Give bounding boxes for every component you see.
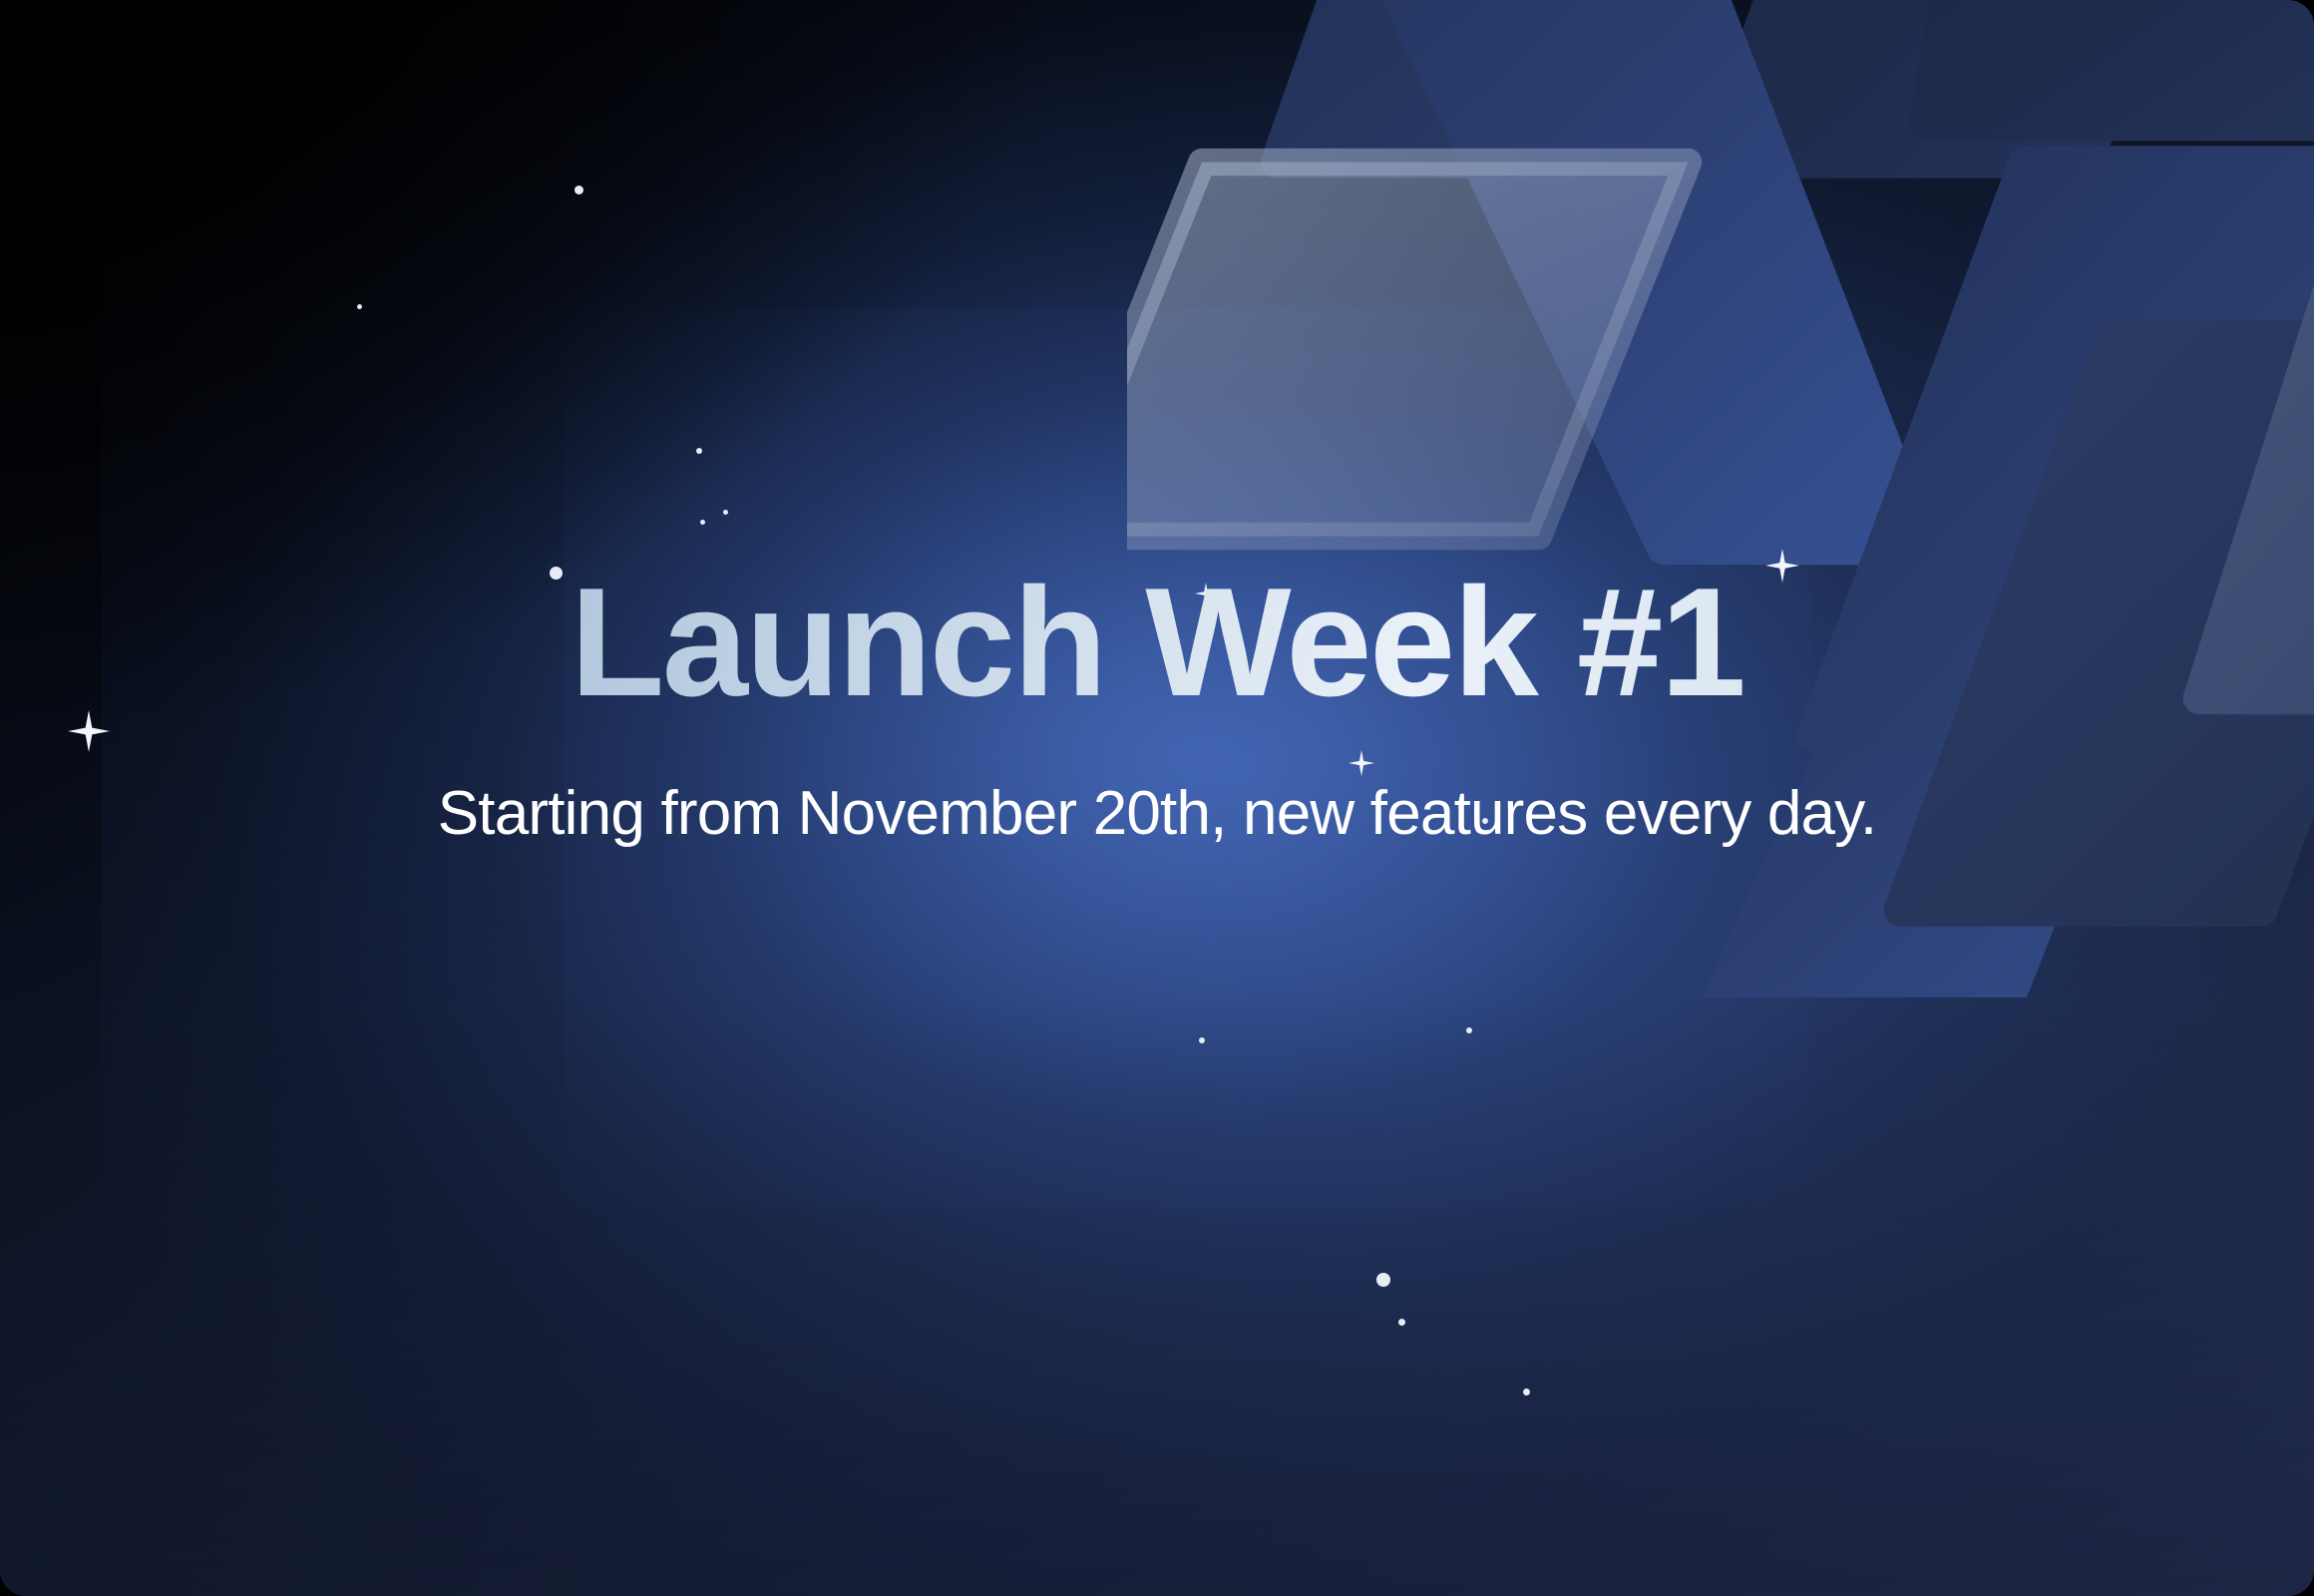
launch-week-banner: Launch Week #1 Starting from November 20… (0, 0, 2314, 1596)
page-title: Launch Week #1 (571, 565, 1744, 719)
banner-content: Launch Week #1 Starting from November 20… (0, 0, 2314, 1596)
page-subtitle: Starting from November 20th, new feature… (438, 719, 1877, 845)
